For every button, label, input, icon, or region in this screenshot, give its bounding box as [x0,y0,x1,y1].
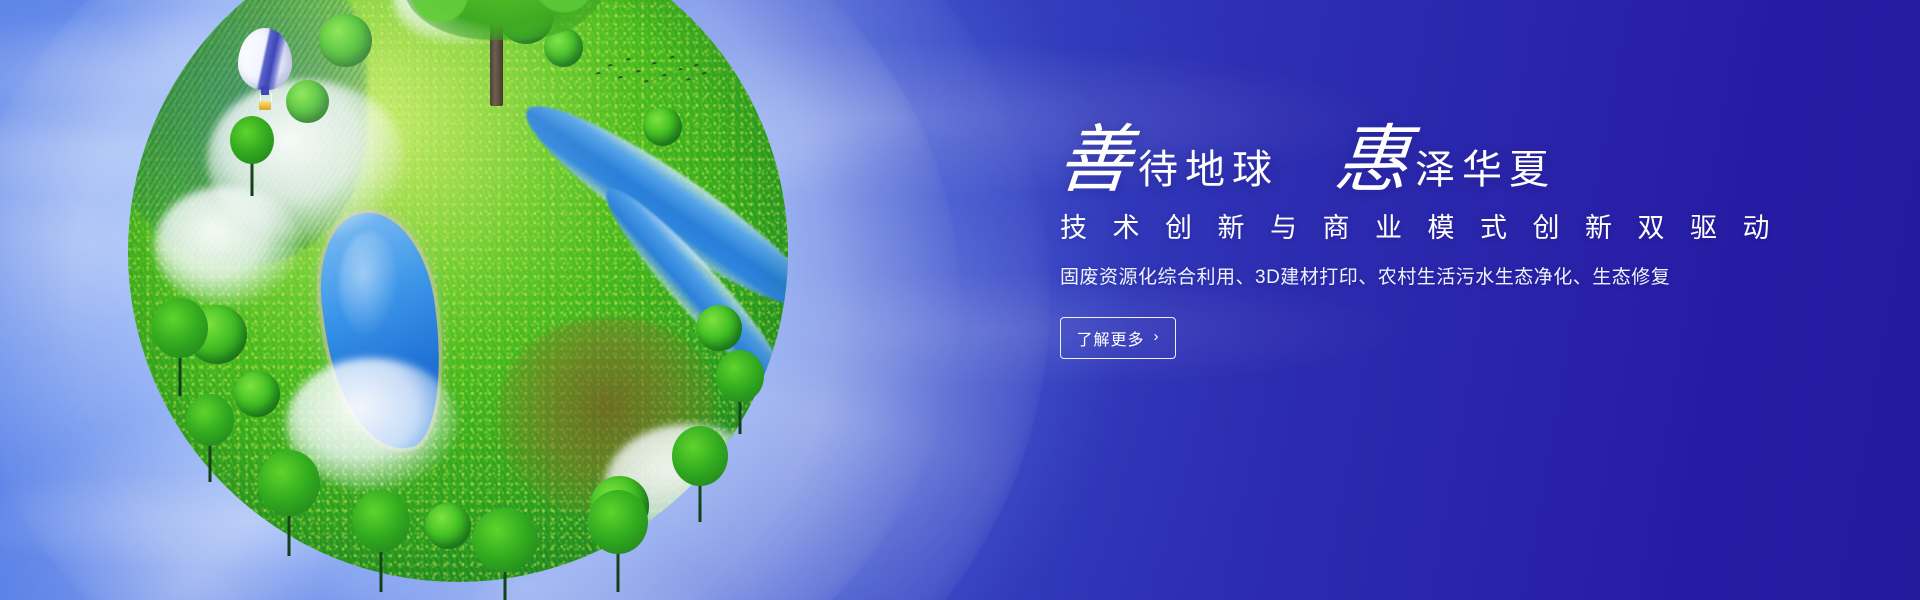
tree-crown [230,116,274,164]
headline-char-2: 惠 [1332,126,1412,196]
rim-tree-icon [352,492,410,592]
tree-crown [186,394,234,446]
tree-crown [716,350,764,402]
rim-tree-icon [152,300,208,396]
headline-char-1: 善 [1055,126,1135,196]
hero-description: 固废资源化综合利用、3D建材打印、农村生活污水生态净化、生态修复 [1060,266,1818,291]
hot-air-balloon-icon [238,28,292,112]
headline-rest-2: 泽华夏 [1415,150,1556,196]
tree-crown [672,426,728,486]
rim-tree-icon [672,428,728,522]
headline-rest-1: 待地球 [1138,150,1279,196]
rim-tree-icon [230,118,274,196]
tree-crown [404,0,604,40]
hero-subtitle: 技 术 创 新 与 商 业 模 式 创 新 双 驱 动 [1060,212,1818,244]
tree-crown [472,508,538,572]
rim-tree-icon [588,492,648,592]
rim-tree-icon [716,352,764,434]
tree-crown [588,490,648,554]
bird-flock-icon [592,50,712,90]
tree-crown [152,298,208,358]
tree-crown [352,490,410,552]
large-tree-icon [404,0,604,104]
balloon-envelope [238,28,292,90]
rim-tree-icon [186,396,234,482]
tree-crown [258,450,320,516]
balloon-basket [259,101,271,110]
chevron-right-icon: › [1154,329,1160,344]
rim-tree-icon [472,510,538,600]
page-title: 善 待地球 惠 泽华夏 [1058,126,1818,196]
learn-more-label: 了解更多 [1076,326,1144,350]
learn-more-button[interactable]: 了解更多 › [1060,317,1176,359]
hero-copy: 善 待地球 惠 泽华夏 技 术 创 新 与 商 业 模 式 创 新 双 驱 动 … [1058,126,1818,359]
rim-tree-icon [258,452,320,556]
hero-banner: 善 待地球 惠 泽华夏 技 术 创 新 与 商 业 模 式 创 新 双 驱 动 … [0,0,1920,600]
